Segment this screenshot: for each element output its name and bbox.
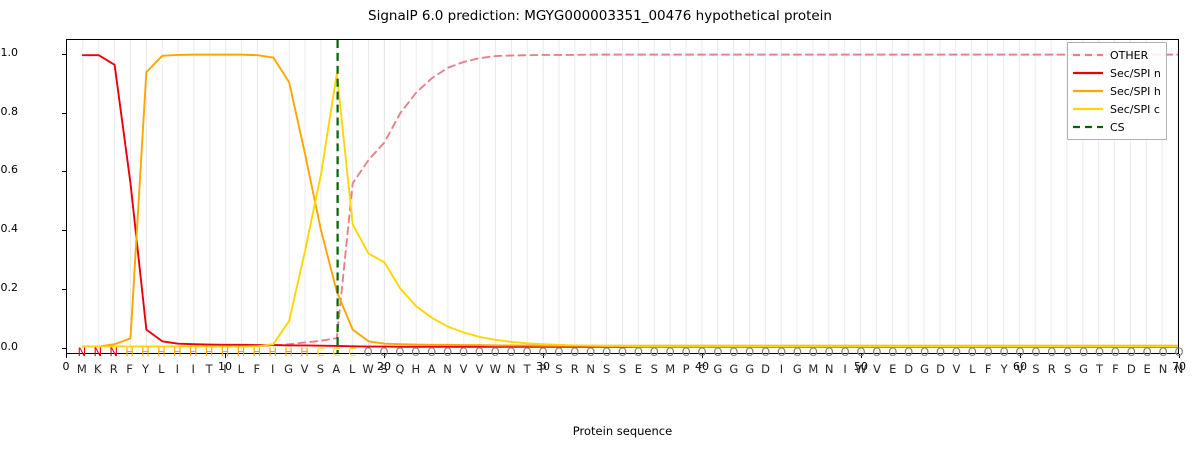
plot-area — [66, 39, 1179, 354]
legend-swatch-icon — [1072, 85, 1104, 97]
legend-item[interactable]: Sec/SPI c — [1072, 100, 1161, 118]
y-tick-label: 0.6 — [0, 163, 18, 176]
legend-item[interactable]: Sec/SPI n — [1072, 64, 1161, 82]
y-tick-mark — [62, 54, 66, 55]
legend-item[interactable]: OTHER — [1072, 46, 1161, 64]
annotation-cell: O — [1169, 345, 1189, 360]
annotation-row: NNNHHHHHHHHHHHHCCCOOOOOOOOOOOOOOOOOOOOOO… — [66, 345, 1179, 360]
legend-label: Sec/SPI c — [1110, 103, 1160, 116]
legend-label: CS — [1110, 121, 1125, 134]
signalp-figure: SignalP 6.0 prediction: MGYG000003351_00… — [0, 0, 1200, 450]
legend-swatch-icon — [1072, 67, 1104, 79]
legend-swatch-icon — [1072, 103, 1104, 115]
probability-curves — [67, 40, 1178, 353]
y-tick-mark — [62, 113, 66, 114]
legend[interactable]: OTHERSec/SPI nSec/SPI hSec/SPI cCS — [1067, 42, 1167, 140]
series-sec-spi-c — [83, 74, 1178, 347]
y-tick-label: 1.0 — [0, 46, 18, 59]
y-tick-mark — [62, 289, 66, 290]
series-sec-spi-n — [83, 55, 1178, 347]
y-tick-label: 0.8 — [0, 105, 18, 118]
legend-swatch-icon — [1072, 121, 1104, 133]
y-tick-mark — [62, 171, 66, 172]
legend-item[interactable]: CS — [1072, 118, 1161, 136]
sequence-row: MKRFYLIITILFIGVSALWSQHANVVWNTPSRNSSESMPC… — [66, 362, 1179, 377]
legend-label: Sec/SPI n — [1110, 67, 1161, 80]
legend-label: Sec/SPI h — [1110, 85, 1161, 98]
y-tick-label: 0.0 — [0, 340, 18, 353]
series-other — [83, 55, 1178, 347]
y-tick-label: 0.4 — [0, 222, 18, 235]
x-axis-label: Protein sequence — [66, 424, 1179, 438]
series-sec-spi-h — [83, 55, 1178, 347]
sequence-cell: N — [1169, 362, 1189, 377]
y-tick-label: 0.2 — [0, 281, 18, 294]
legend-item[interactable]: Sec/SPI h — [1072, 82, 1161, 100]
legend-swatch-icon — [1072, 49, 1104, 61]
legend-label: OTHER — [1110, 49, 1148, 62]
y-tick-mark — [62, 230, 66, 231]
chart-title: SignalP 6.0 prediction: MGYG000003351_00… — [0, 8, 1200, 24]
